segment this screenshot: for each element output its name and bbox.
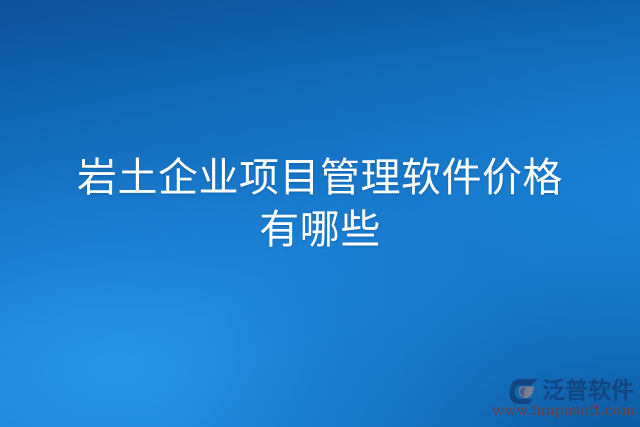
title-line-1: 岩土企业项目管理软件价格	[26, 152, 614, 204]
fanpu-angular-mark-icon	[509, 378, 539, 405]
watermark-brand-text: 泛普软件	[542, 378, 634, 405]
banner-image: 岩土企业项目管理软件价格 有哪些 泛普软件 www.fanpusoft.com	[0, 0, 640, 427]
banner-title: 岩土企业项目管理软件价格 有哪些	[0, 152, 640, 256]
title-line-2: 有哪些	[26, 204, 614, 256]
watermark-brand-row: 泛普软件	[492, 376, 634, 406]
watermark: 泛普软件 www.fanpusoft.com	[492, 376, 634, 419]
watermark-url-text: www.fanpusoft.com	[492, 403, 634, 419]
